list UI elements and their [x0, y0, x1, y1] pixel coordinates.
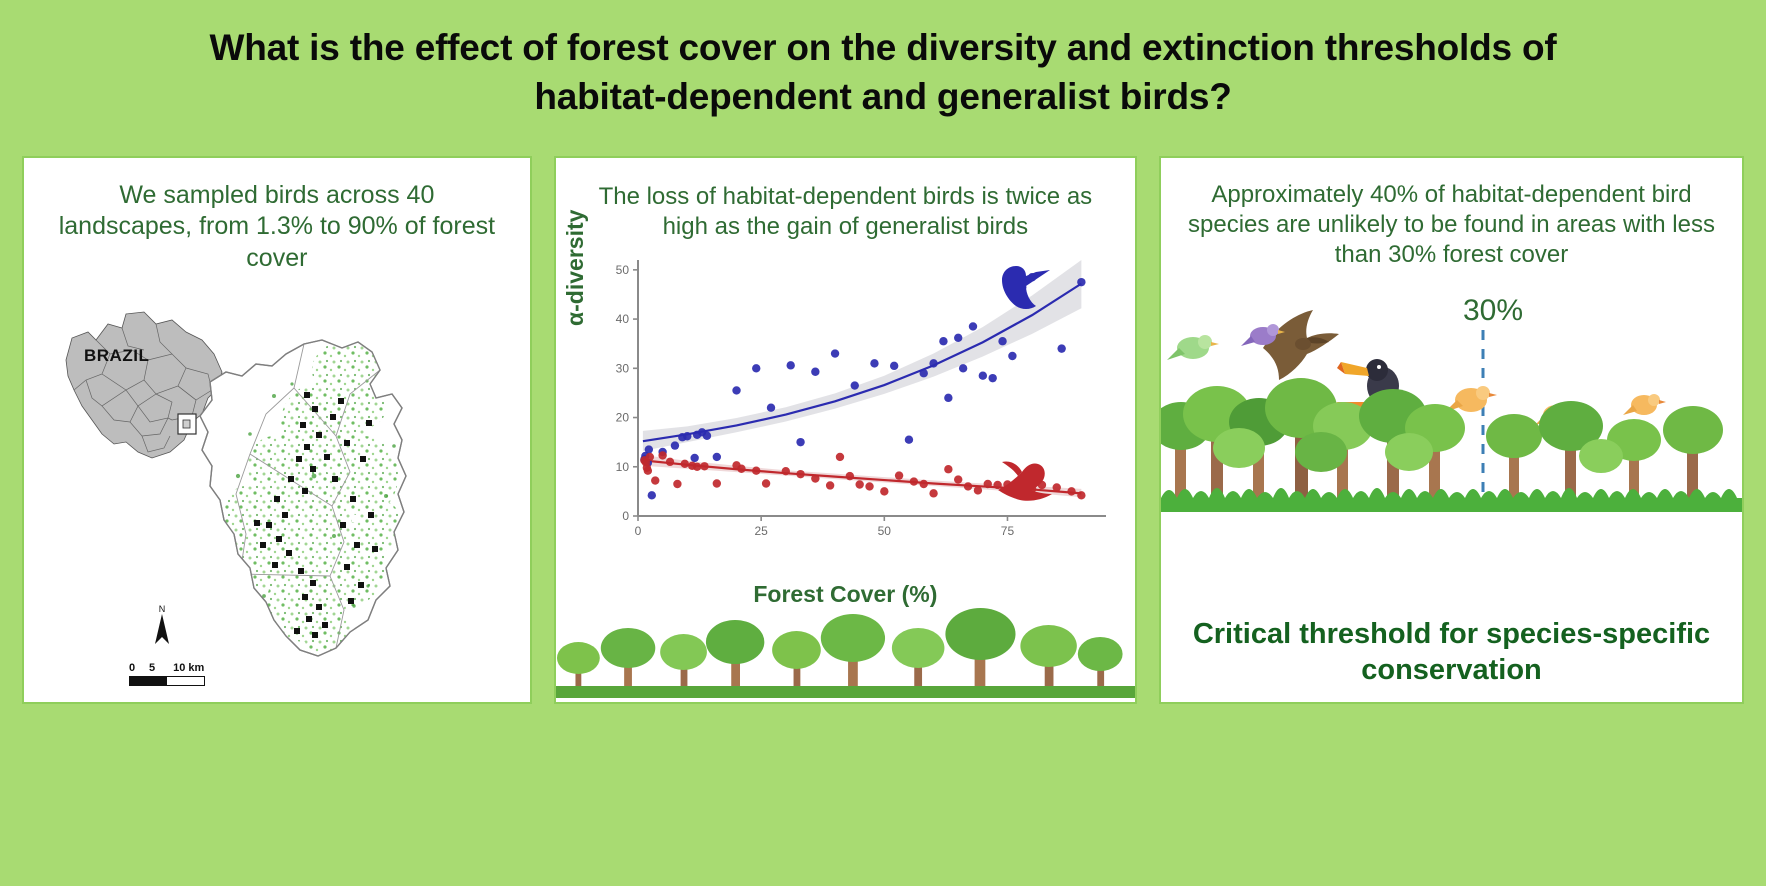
panels-row: We sampled birds across 40 landscapes, f…: [0, 156, 1766, 704]
svg-text:30: 30: [615, 361, 629, 375]
graphical-abstract: What is the effect of forest cover on th…: [0, 0, 1766, 886]
svg-text:0: 0: [622, 509, 629, 523]
map-scale-bar: 0 5 10 km: [129, 662, 239, 686]
threshold-scene: 30%: [1161, 276, 1742, 544]
blue-toucan-silhouette-icon: [986, 260, 1056, 314]
orange-bird-1-icon: [1445, 386, 1497, 412]
forest-illustration-strip: [556, 598, 1135, 698]
threshold-percent-label: 30%: [1463, 294, 1523, 328]
title-bar: What is the effect of forest cover on th…: [0, 0, 1766, 132]
scale-label-5: 5: [149, 662, 155, 674]
red-bird-silhouette-icon: [992, 460, 1058, 506]
svg-text:40: 40: [615, 312, 629, 326]
forest-right: [1486, 401, 1723, 502]
conclusion-text: Critical threshold for species-specific …: [1161, 617, 1742, 688]
panel-study-area: We sampled birds across 40 landscapes, f…: [22, 156, 532, 704]
map-area: BRAZIL: [24, 278, 530, 698]
scale-segment-dark: [130, 677, 167, 685]
orange-bird-3-icon: [1623, 394, 1666, 415]
forest-birds-illustration: [1161, 276, 1742, 544]
alpha-diversity-chart: α-diversity 010203040500255075 Forest Co…: [556, 248, 1135, 578]
state-forest-cover-map: [154, 336, 464, 666]
svg-text:75: 75: [1001, 524, 1015, 538]
brazil-inset-label: BRAZIL: [84, 346, 149, 366]
svg-text:N: N: [159, 604, 166, 614]
svg-text:20: 20: [615, 411, 629, 425]
forest-left: [1161, 378, 1465, 502]
right-panel-caption: Approximately 40% of habitat-dependent b…: [1161, 158, 1742, 270]
svg-text:0: 0: [634, 524, 641, 538]
svg-text:50: 50: [877, 524, 891, 538]
middle-panel-caption: The loss of habitat-dependent birds is t…: [556, 158, 1135, 242]
svg-text:50: 50: [615, 263, 629, 277]
svg-text:10: 10: [615, 460, 629, 474]
compass-north-icon: N: [149, 602, 175, 646]
panel-diversity-chart: The loss of habitat-dependent birds is t…: [554, 156, 1137, 704]
scale-segment-light: [167, 677, 204, 685]
page-title: What is the effect of forest cover on th…: [150, 24, 1616, 122]
scale-label-10km: 10 km: [173, 662, 204, 674]
left-panel-caption: We sampled birds across 40 landscapes, f…: [24, 158, 530, 274]
panel-threshold: Approximately 40% of habitat-dependent b…: [1159, 156, 1744, 704]
hawk-icon: [1263, 310, 1339, 380]
grass-band: [1161, 488, 1742, 512]
svg-text:25: 25: [754, 524, 768, 538]
green-bird-icon: [1167, 335, 1219, 360]
